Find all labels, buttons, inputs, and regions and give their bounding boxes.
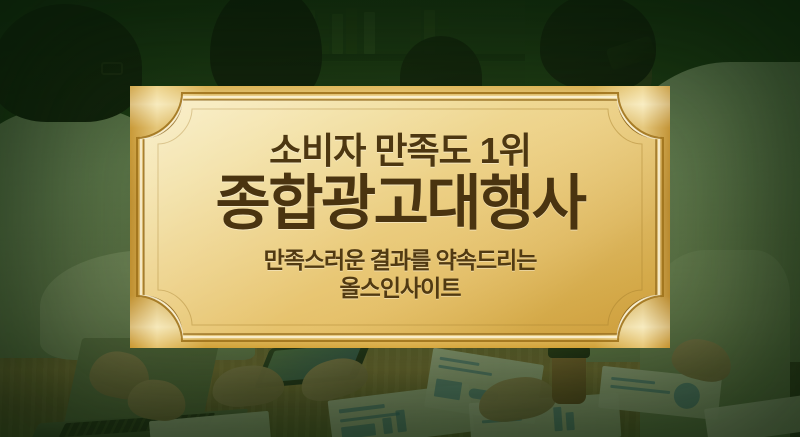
headline-small: 소비자 만족도 1위 (269, 132, 531, 170)
plaque-text-block: 소비자 만족도 1위 종합광고대행사 만족스러운 결과를 약속드리는 올스인사이… (130, 86, 670, 348)
banner-root: 소비자 만족도 1위 종합광고대행사 만족스러운 결과를 약속드리는 올스인사이… (0, 0, 800, 437)
headline-large: 종합광고대행사 (216, 172, 585, 236)
subtitle-line-1: 만족스러운 결과를 약속드리는 (264, 246, 537, 274)
subtitle-line-2: 올스인사이트 (340, 274, 461, 302)
gold-plaque: 소비자 만족도 1위 종합광고대행사 만족스러운 결과를 약속드리는 올스인사이… (130, 86, 670, 348)
